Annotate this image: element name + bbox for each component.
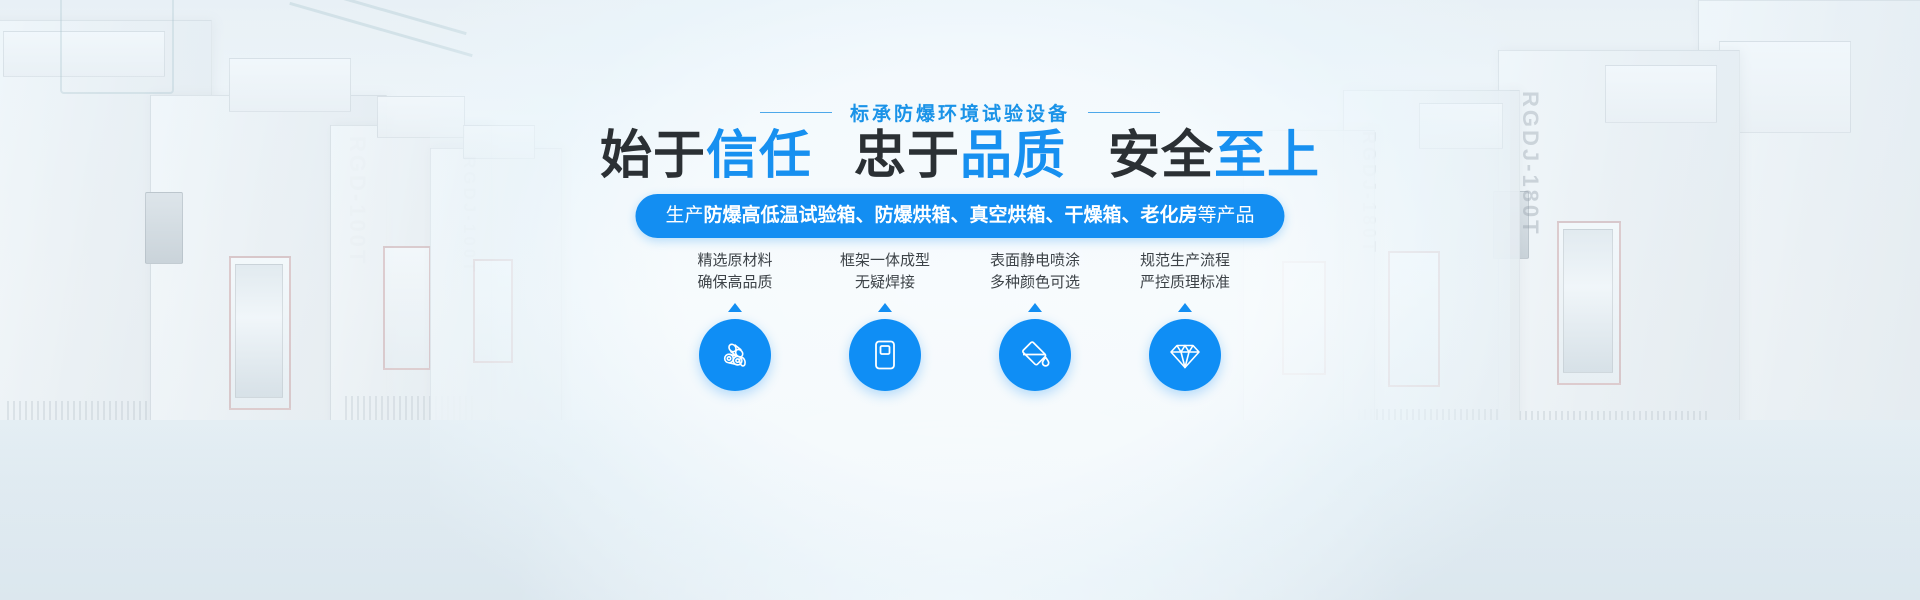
feature-line-1: 精选原材料 xyxy=(697,250,772,272)
pointer-triangle xyxy=(1178,303,1192,312)
feature-item-standard: 规范生产流程 严控质理标准 xyxy=(1132,250,1238,391)
feature-item-coating: 表面静电喷涂 多种颜色可选 xyxy=(982,250,1088,391)
headline-part-3-blue: 至上 xyxy=(1214,127,1320,185)
feature-line-2: 严控质理标准 xyxy=(1140,272,1230,294)
pointer-triangle xyxy=(1028,303,1042,312)
feature-line-2: 确保高品质 xyxy=(697,272,772,294)
tagline-row: 标承防爆环境试验设备 xyxy=(760,99,1160,126)
pipes-icon xyxy=(718,338,752,372)
diamond-icon xyxy=(1168,339,1202,371)
hero-banner: RGD-100T RGDJ-100T RGDJ-180T xyxy=(0,0,1920,600)
feature-icon-circle xyxy=(699,319,771,391)
feature-icon-circle xyxy=(1149,319,1221,391)
headline-part-2-blue: 品质 xyxy=(960,127,1066,185)
feature-icon-circle xyxy=(849,319,921,391)
feature-item-frame: 框架一体成型 无疑焊接 xyxy=(832,250,938,391)
feature-item-materials: 精选原材料 确保高品质 xyxy=(682,250,788,391)
headline-part-1-blue: 信任 xyxy=(706,127,812,185)
feature-line-1: 框架一体成型 xyxy=(840,250,930,272)
tagline-text: 标承防爆环境试验设备 xyxy=(850,99,1070,126)
pill-suffix: 等产品 xyxy=(1198,205,1255,226)
banner-content: 标承防爆环境试验设备 始于信任忠于品质安全至上 生产防爆高低温试验箱、防爆烘箱、… xyxy=(0,0,1920,600)
pill-products: 防爆高低温试验箱、防爆烘箱、真空烘箱、干燥箱、老化房 xyxy=(703,205,1197,226)
feature-list: 精选原材料 确保高品质 xyxy=(682,250,1238,391)
feature-line-2: 无疑焊接 xyxy=(855,272,915,294)
headline-part-1-dark: 始于 xyxy=(600,127,706,185)
cabinet-icon xyxy=(870,338,900,372)
pointer-triangle xyxy=(728,303,742,312)
product-pill: 生产防爆高低温试验箱、防爆烘箱、真空烘箱、干燥箱、老化房等产品 xyxy=(635,194,1284,238)
headline: 始于信任忠于品质安全至上 xyxy=(600,125,1320,187)
pointer-triangle xyxy=(878,303,892,312)
feature-line-1: 表面静电喷涂 xyxy=(990,250,1080,272)
feature-line-1: 规范生产流程 xyxy=(1140,250,1230,272)
headline-part-2-dark: 忠于 xyxy=(854,127,960,185)
feature-icon-circle xyxy=(999,319,1071,391)
headline-part-3-dark: 安全 xyxy=(1108,127,1214,185)
tagline-rule-right xyxy=(1088,112,1160,113)
feature-line-2: 多种颜色可选 xyxy=(990,272,1080,294)
tagline-rule-left xyxy=(760,112,832,113)
pill-prefix: 生产 xyxy=(665,205,703,226)
paint-drop-icon xyxy=(1018,338,1052,372)
